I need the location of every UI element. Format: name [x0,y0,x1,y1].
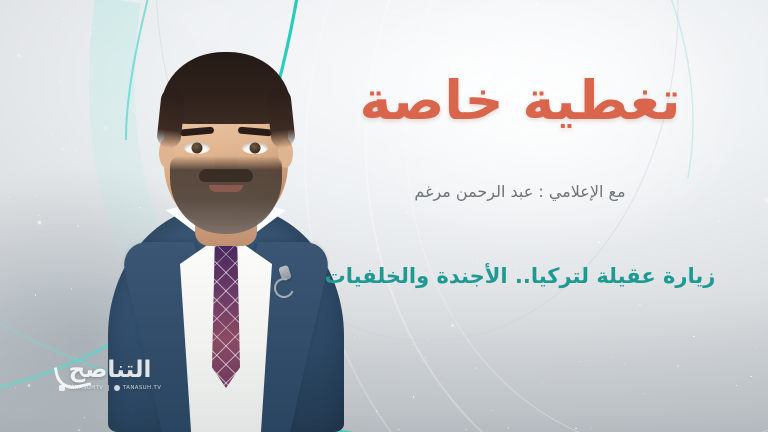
channel-logo: التناصح TANASUHTV TANASUH.TV [50,358,170,404]
iris-left [192,143,203,154]
website-handle-chip: TANASUH.TV [114,385,161,391]
program-title: تغطية خاصة [300,74,740,128]
hair [161,52,291,124]
eye-left [184,142,210,154]
broadcast-graphic-frame: تغطية خاصة مع الإعلامي : عبد الرحمن مرغم… [0,0,768,432]
website-badge-icon [114,385,120,391]
eyebrow-right [238,127,272,137]
text-column: تغطية خاصة مع الإعلامي : عبد الرحمن مرغم… [300,0,740,432]
mustache [199,169,253,182]
eyebrow-left [180,127,214,137]
iris-right [250,143,261,154]
episode-headline: زيارة عقيلة لتركيا.. الأجندة والخلفيات [300,264,740,288]
presenter-credit: مع الإعلامي : عبد الرحمن مرغم [300,182,740,201]
handle-divider [108,385,109,391]
mouth [209,185,243,192]
eye-right [242,142,268,154]
website-handle-text: TANASUH.TV [123,385,161,391]
